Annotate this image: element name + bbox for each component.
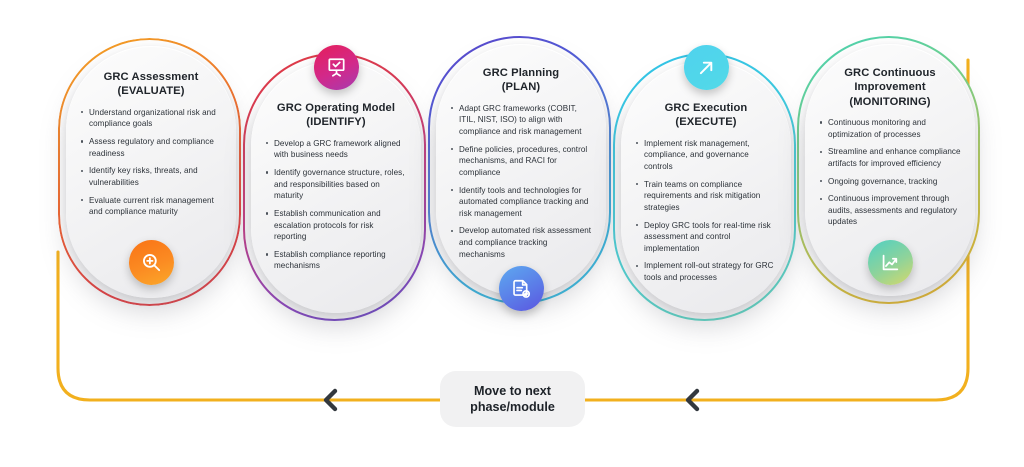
card-title-execution: GRC Execution (EXECUTE) <box>665 101 748 130</box>
list-item: Deploy GRC tools for real-time risk asse… <box>635 220 777 255</box>
phase-card-planning[interactable]: GRC Planning (PLAN) Adapt GRC frameworks… <box>436 44 606 296</box>
list-item: Continuous monitoring and optimization o… <box>819 117 961 140</box>
list-item: Implement risk management, compliance, a… <box>635 138 777 173</box>
list-item: Train teams on compliance requirements a… <box>635 179 777 214</box>
list-item: Adapt GRC frameworks (COBIT, ITIL, NIST,… <box>450 103 592 138</box>
presentation-check-icon <box>314 45 359 90</box>
chevron-left-icon-left <box>318 386 342 414</box>
list-item: Develop a GRC framework aligned with bus… <box>265 138 407 161</box>
list-item: Develop automated risk assessment and co… <box>450 225 592 260</box>
card-title-line2: (PLAN) <box>502 81 541 93</box>
card-title-planning: GRC Planning (PLAN) <box>483 66 559 95</box>
phase-card-assessment[interactable]: GRC Assessment (EVALUATE) Understand org… <box>66 46 236 298</box>
list-item: Streamline and enhance compliance artifa… <box>819 146 961 169</box>
footer-label-line1: Move to next <box>474 384 551 398</box>
list-item: Identify governance structure, roles, an… <box>265 167 407 202</box>
card-title-assessment: GRC Assessment (EVALUATE) <box>104 70 199 99</box>
list-item: Assess regulatory and compliance readine… <box>80 136 222 159</box>
diagram-canvas: GRC Assessment (EVALUATE) Understand org… <box>0 0 1024 467</box>
chevron-left-icon-right <box>680 386 704 414</box>
arrow-up-right-icon <box>684 45 729 90</box>
move-to-next-phase-label[interactable]: Move to next phase/module <box>440 371 585 427</box>
document-plus-icon <box>499 266 544 311</box>
card-title-line1: GRC Execution <box>665 102 748 114</box>
card-bullets-operating-model: Develop a GRC framework aligned with bus… <box>265 138 407 278</box>
card-title-line1: GRC Planning <box>483 67 559 79</box>
card-bullets-planning: Adapt GRC frameworks (COBIT, ITIL, NIST,… <box>450 103 592 267</box>
card-title-line3: (MONITORING) <box>849 96 930 108</box>
line-chart-icon <box>868 240 913 285</box>
list-item: Continuous improvement through audits, a… <box>819 193 961 228</box>
card-title-operating-model: GRC Operating Model (IDENTIFY) <box>277 101 395 130</box>
list-item: Ongoing governance, tracking <box>819 176 961 188</box>
footer-label-line2: phase/module <box>470 400 555 414</box>
list-item: Define policies, procedures, control mec… <box>450 144 592 179</box>
list-item: Establish compliance reporting mechanism… <box>265 249 407 272</box>
card-title-continuous-improvement: GRC Continuous Improvement (MONITORING) <box>844 66 936 109</box>
phase-card-execution[interactable]: GRC Execution (EXECUTE) Implement risk m… <box>621 61 791 313</box>
card-title-line1: GRC Operating Model <box>277 102 395 114</box>
list-item: Implement roll-out strategy for GRC tool… <box>635 260 777 283</box>
card-title-line2: (EXECUTE) <box>675 116 736 128</box>
list-item: Establish communication and escalation p… <box>265 208 407 243</box>
card-title-line2: (EVALUATE) <box>117 85 184 97</box>
card-bullets-continuous-improvement: Continuous monitoring and optimization o… <box>819 117 961 234</box>
phase-card-continuous-improvement[interactable]: GRC Continuous Improvement (MONITORING) … <box>805 44 975 296</box>
card-bullets-execution: Implement risk management, compliance, a… <box>635 138 777 290</box>
list-item: Identify key risks, threats, and vulnera… <box>80 165 222 188</box>
list-item: Identify tools and technologies for auto… <box>450 185 592 220</box>
list-item: Evaluate current risk management and com… <box>80 195 222 218</box>
card-title-line2: Improvement <box>854 81 925 93</box>
list-item: Understand organizational risk and compl… <box>80 107 222 130</box>
card-title-line1: GRC Continuous <box>844 67 936 79</box>
card-title-line1: GRC Assessment <box>104 71 199 83</box>
phase-card-operating-model[interactable]: GRC Operating Model (IDENTIFY) Develop a… <box>251 61 421 313</box>
card-title-line2: (IDENTIFY) <box>306 116 365 128</box>
magnifier-plus-icon <box>129 240 174 285</box>
card-bullets-assessment: Understand organizational risk and compl… <box>80 107 222 224</box>
